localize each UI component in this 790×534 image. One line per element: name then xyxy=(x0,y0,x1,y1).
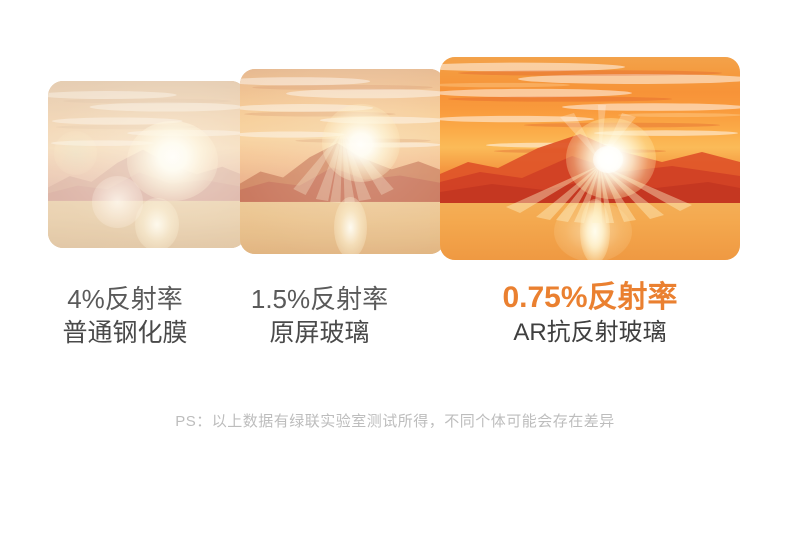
sunset-scene-3 xyxy=(440,57,740,260)
reflectance-value-1: 4%反射率 xyxy=(30,284,220,315)
sun-core-3 xyxy=(593,146,623,172)
sunset-scene-1 xyxy=(48,81,246,248)
sunset-scene-2 xyxy=(240,69,445,254)
label-original-screen-glass: 1.5%反射率 原屏玻璃 xyxy=(222,284,417,348)
label-ar-anti-reflective-glass: 0.75%反射率 AR抗反射玻璃 xyxy=(465,280,715,348)
image-panel-original-screen-glass xyxy=(240,69,445,254)
image-panel-ordinary-tempered-film xyxy=(48,81,246,248)
haze-wash-2 xyxy=(240,69,445,254)
reflectance-value-3: 0.75%反射率 xyxy=(465,280,715,315)
material-name-2: 原屏玻璃 xyxy=(222,319,417,349)
reflectance-value-2: 1.5%反射率 xyxy=(222,284,417,315)
image-panel-ar-anti-reflective-glass xyxy=(440,57,740,260)
material-name-3: AR抗反射玻璃 xyxy=(465,319,715,347)
material-name-1: 普通钢化膜 xyxy=(30,319,220,349)
haze-wash-1 xyxy=(48,81,246,248)
footnote-disclaimer: PS：以上数据有绿联实验室测试所得，不同个体可能会存在差异 xyxy=(0,410,790,431)
label-ordinary-tempered-film: 4%反射率 普通钢化膜 xyxy=(30,284,220,348)
comparison-figure: 4%反射率 普通钢化膜 1.5%反射率 原屏玻璃 0.75%反射率 AR抗反射玻… xyxy=(0,0,790,534)
